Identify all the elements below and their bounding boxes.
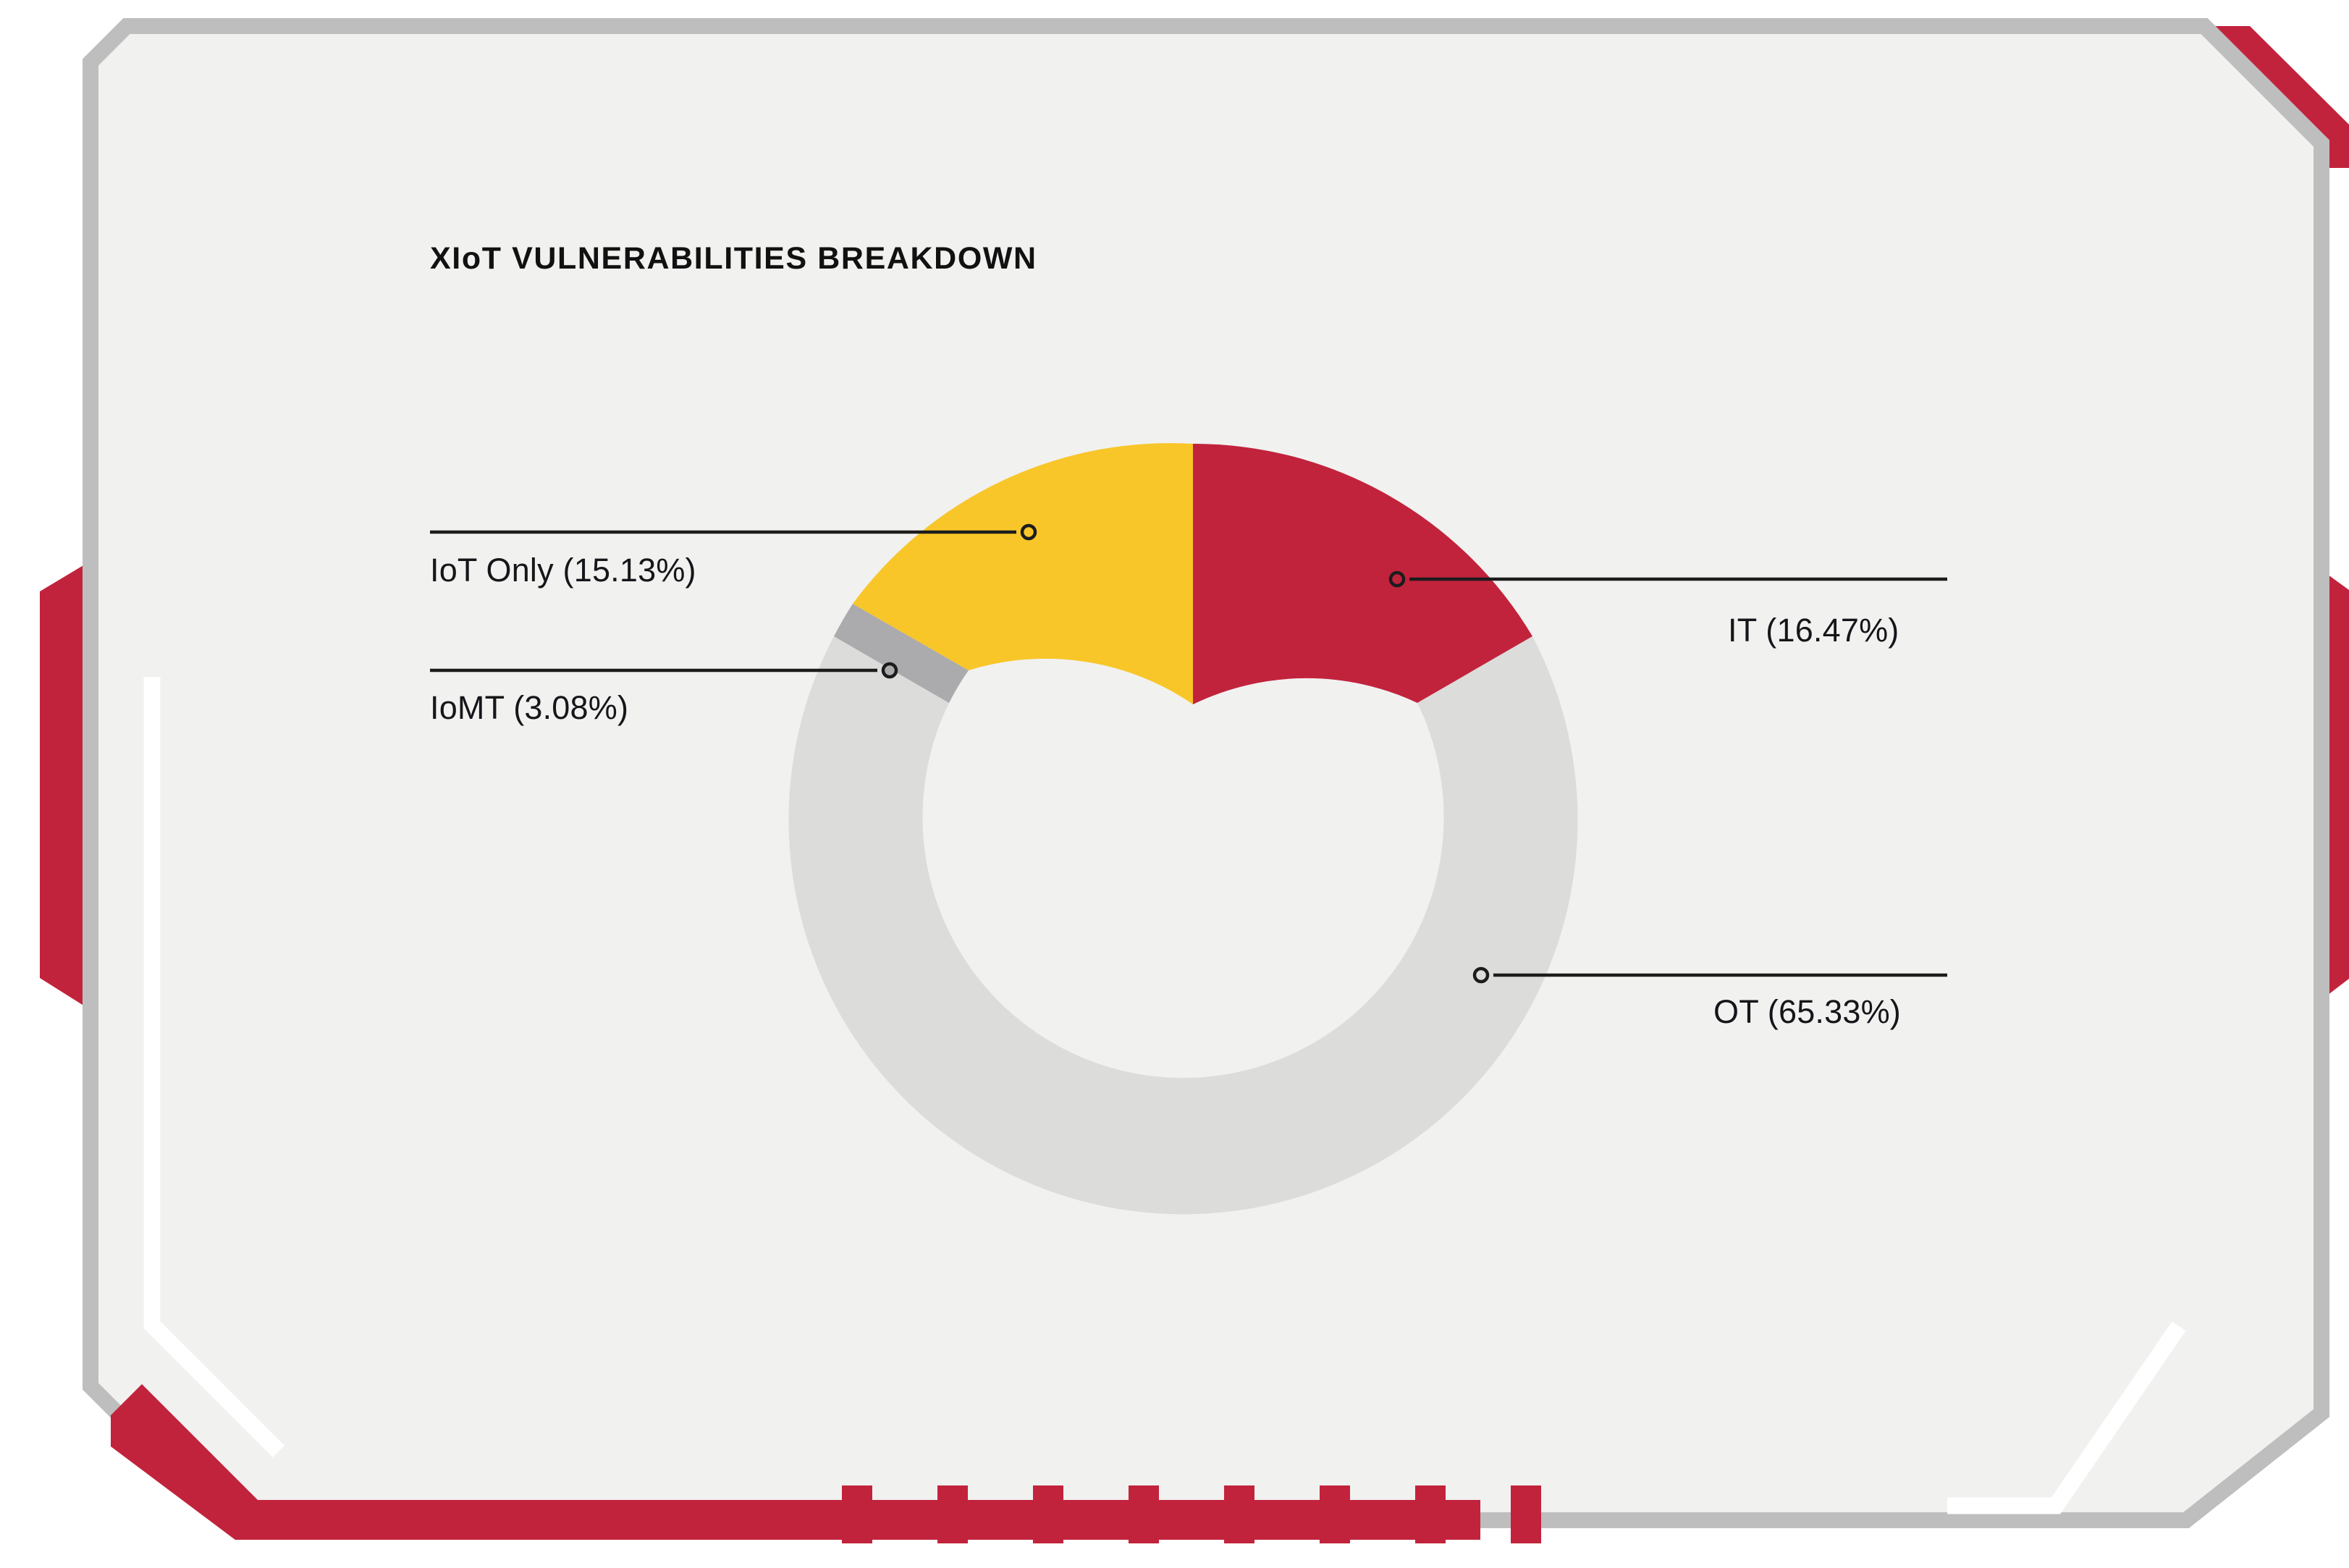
- slice-label-ot: OT (65.33%): [1713, 993, 1901, 1031]
- leader-marker-ot: [1475, 969, 1488, 982]
- panel-background: [90, 26, 2321, 1520]
- infographic-canvas: XIoT VULNERABILITIES BREAKDOWN IoT Only …: [0, 0, 2349, 1568]
- decorative-frame: [0, 0, 2349, 1568]
- slice-label-it: IT (16.47%): [1728, 612, 1899, 649]
- slice-label-iot-only: IoT Only (15.13%): [430, 552, 696, 589]
- page-title: XIoT VULNERABILITIES BREAKDOWN: [430, 241, 1037, 277]
- leader-marker-iot-only: [1022, 526, 1035, 539]
- leader-marker-it: [1391, 573, 1404, 586]
- leader-marker-iomt: [883, 664, 896, 677]
- slice-label-iomt: IoMT (3.08%): [430, 689, 628, 727]
